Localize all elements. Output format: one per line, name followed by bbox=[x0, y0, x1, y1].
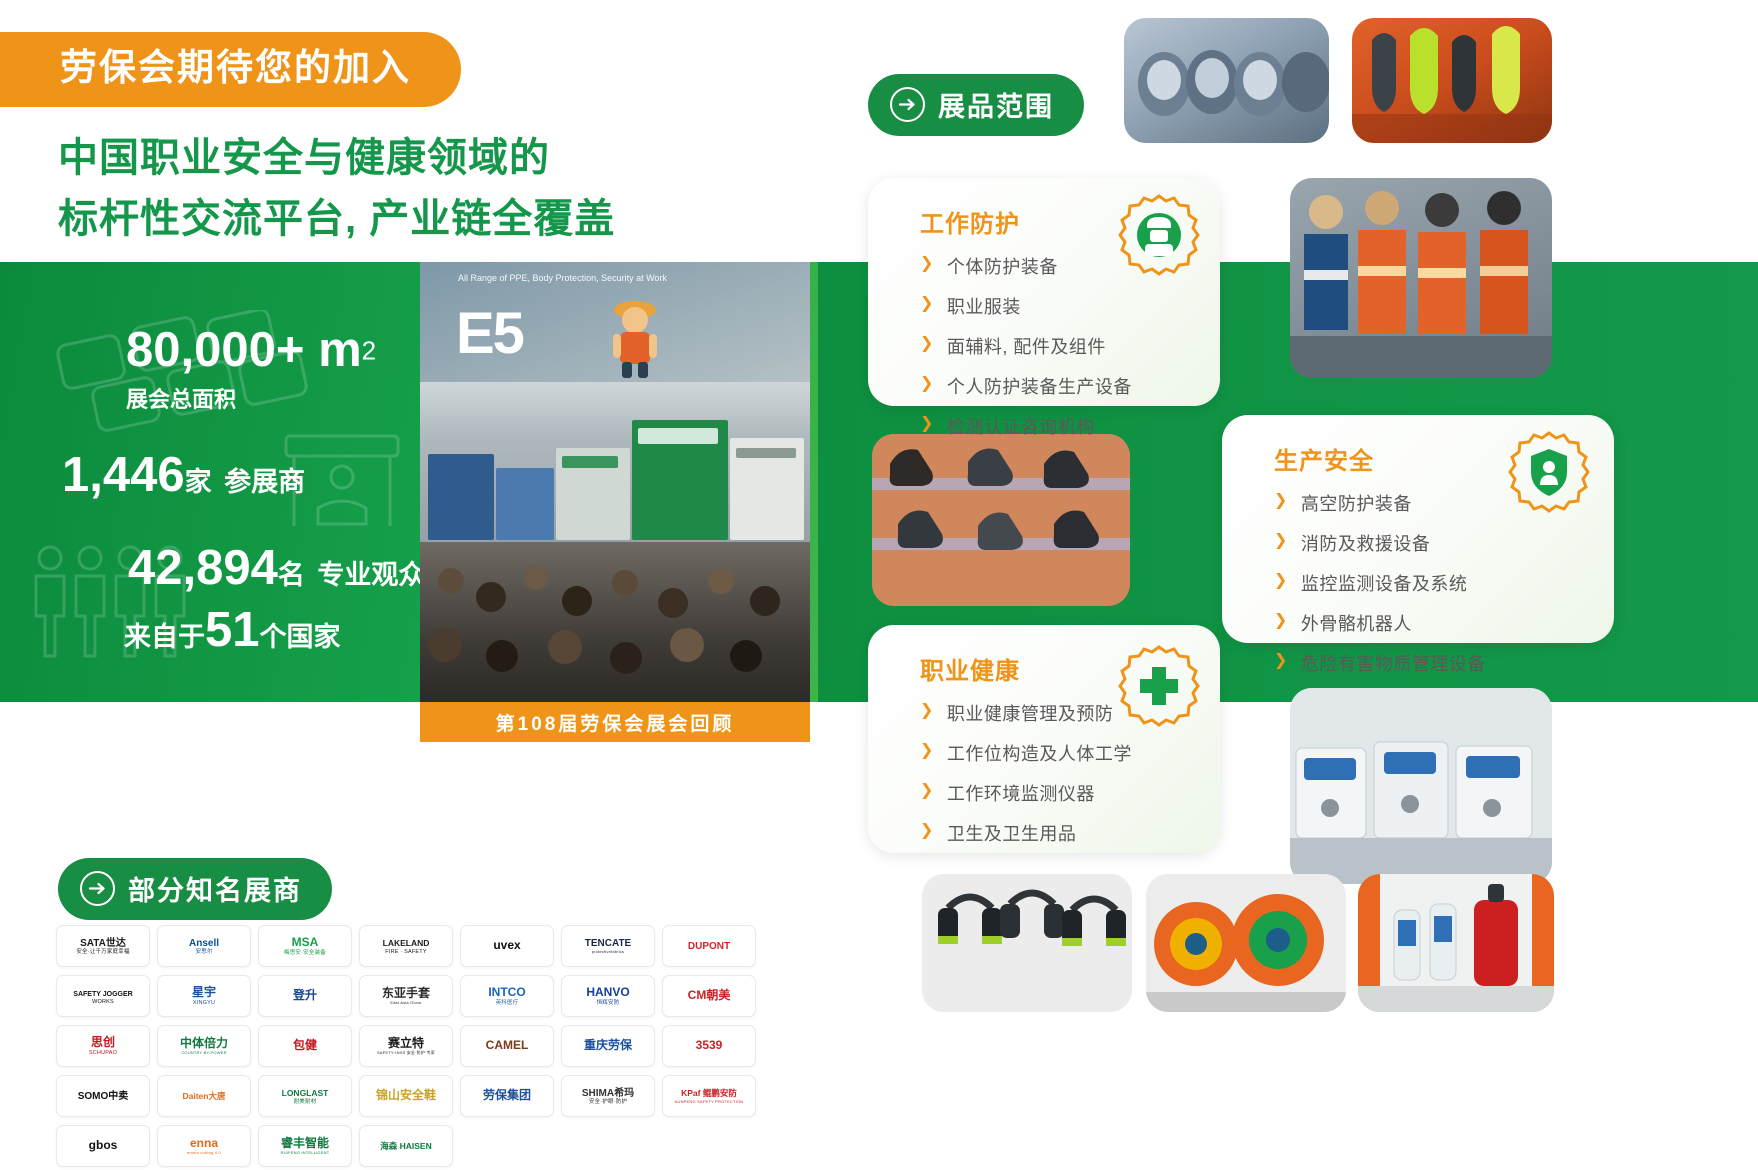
cross-gear-icon bbox=[1116, 643, 1202, 734]
exhibitor-logo-19[interactable]: CAMEL bbox=[460, 1025, 554, 1067]
exhibitor-logo-label: SOMO中卖 bbox=[78, 1090, 129, 1103]
arrow-right-icon bbox=[80, 871, 115, 906]
badge-known-exhibitors[interactable]: 部分知名展商 bbox=[58, 858, 332, 920]
chevron-right-icon: ❯ bbox=[920, 373, 934, 395]
exhibitor-logo-5[interactable]: uvex bbox=[460, 925, 554, 967]
exhibitor-logo-label: 3539 bbox=[696, 1039, 723, 1053]
poster-page: 劳保会期待您的加入 中国职业安全与健康领域的 标杆性交流平台, 产业链全覆盖 bbox=[0, 0, 1758, 1170]
list-item-label: 个体防护装备 bbox=[947, 253, 1058, 279]
worker-gear-icon bbox=[1116, 192, 1202, 283]
exhibitor-logo-label: SAFETY JOGGERWORKS bbox=[73, 987, 132, 1006]
list-item-label: 检测认证咨询机构 bbox=[947, 413, 1095, 439]
exhibitor-logo-label: CAMEL bbox=[486, 1039, 529, 1053]
chevron-right-icon: ❯ bbox=[920, 780, 934, 802]
exhibitor-logo-label: LONGLAST耐美耐材 bbox=[282, 1087, 329, 1106]
badge-known-exhibitors-label: 部分知名展商 bbox=[128, 869, 302, 908]
list-item-label: 工作环境监测仪器 bbox=[947, 780, 1095, 806]
exhibitor-logo-16[interactable]: 中体倍力COUNTRY BY-POWER bbox=[157, 1025, 251, 1067]
page-title: 中国职业安全与健康领域的 标杆性交流平台, 产业链全覆盖 bbox=[58, 128, 615, 250]
exhibitor-logo-9[interactable]: 星宇XINGYU bbox=[157, 975, 251, 1017]
mascot-icon bbox=[600, 294, 670, 380]
respirator-masks-photo bbox=[1124, 18, 1329, 143]
list-item[interactable]: ❯个人防护装备生产设备 bbox=[920, 373, 1190, 399]
chevron-right-icon: ❯ bbox=[1274, 490, 1288, 512]
exhibitor-logo-label: Ansell安思尔 bbox=[189, 937, 219, 956]
exhibitor-logo-2[interactable]: Ansell安思尔 bbox=[157, 925, 251, 967]
exhibitor-logo-17[interactable]: 包健 bbox=[258, 1025, 352, 1067]
stat-exhibitors-unit: 家 bbox=[185, 467, 212, 497]
exhibitor-logo-21[interactable]: 3539 bbox=[662, 1025, 756, 1067]
badge-exhibit-scope[interactable]: 展品范围 bbox=[868, 74, 1084, 136]
list-item-label: 消防及救援设备 bbox=[1301, 530, 1431, 556]
exhibitor-logo-label: 中体倍力COUNTRY BY-POWER bbox=[180, 1037, 228, 1055]
chevron-right-icon: ❯ bbox=[1274, 610, 1288, 632]
list-item[interactable]: ❯监控监测设备及系统 bbox=[1274, 570, 1584, 596]
chevron-right-icon: ❯ bbox=[920, 293, 934, 315]
stat-exhibitors: 1,446家 参展商 bbox=[62, 447, 305, 503]
list-item-label: 面辅料, 配件及组件 bbox=[947, 333, 1106, 359]
exhibitor-logo-23[interactable]: Daiten大唐 bbox=[157, 1075, 251, 1117]
exhibitor-logo-label: DUPONT bbox=[688, 940, 730, 953]
list-item-label: 工作位构造及人体工学 bbox=[947, 740, 1132, 766]
exhibitor-logo-label: HANVO恒辉安防 bbox=[586, 986, 629, 1006]
category-card-work-protection[interactable]: 工作防护 ❯个体防护装备 ❯职业服装 ❯面辅料, 配件及组件 ❯个人防护装备生产… bbox=[868, 178, 1220, 406]
chevron-right-icon: ❯ bbox=[1274, 570, 1288, 592]
exhibitor-logo-label: Daiten大唐 bbox=[183, 1090, 226, 1103]
exhibitor-logo-24[interactable]: LONGLAST耐美耐材 bbox=[258, 1075, 352, 1117]
list-item-label: 外骨骼机器人 bbox=[1301, 610, 1412, 636]
hero-title-line1: 中国职业安全与健康领域的 bbox=[58, 128, 615, 189]
cable-reel-photo bbox=[1146, 874, 1346, 1012]
exhibitor-logo-label: 包健 bbox=[293, 1039, 317, 1053]
stat-countries-suffix: 个国家 bbox=[260, 622, 341, 652]
stat-exhibitors-label: 参展商 bbox=[224, 467, 305, 497]
exhibitor-logo-7[interactable]: DUPONT bbox=[662, 925, 756, 967]
list-item[interactable]: ❯职业服装 bbox=[920, 293, 1190, 319]
exhibitor-logo-label: ennaemma cutting 4.0 bbox=[187, 1137, 221, 1155]
arrow-right-icon bbox=[890, 87, 925, 122]
exhibitor-logo-14[interactable]: CM朝美 bbox=[662, 975, 756, 1017]
exhibitor-logo-label: INTCO英科医疗 bbox=[488, 986, 525, 1006]
exhibitor-logo-11[interactable]: 东亚手套East Asia Glove bbox=[359, 975, 453, 1017]
stat-visitors: 42,894名 专业观众 bbox=[128, 540, 425, 596]
exhibitor-logo-3[interactable]: MSA梅思安·安全装备 bbox=[258, 925, 352, 967]
safety-shoes-photo bbox=[872, 434, 1130, 606]
list-item[interactable]: ❯检测认证咨询机构 bbox=[920, 413, 1190, 439]
exhibitor-logo-label: 思创SCHUPAO bbox=[89, 1036, 117, 1056]
stat-exhibitors-value: 1,446 bbox=[62, 448, 185, 502]
safety-gloves-photo bbox=[1352, 18, 1552, 143]
visitor-crowd-area bbox=[420, 542, 810, 712]
chevron-right-icon: ❯ bbox=[1274, 650, 1288, 672]
chevron-right-icon: ❯ bbox=[1274, 530, 1288, 552]
list-item[interactable]: ❯消防及救援设备 bbox=[1274, 530, 1584, 556]
list-item-label: 卫生及卫生用品 bbox=[947, 820, 1077, 846]
exhibitor-logo-label: 赛立特SAFETY·INXS 安全·防护·专家 bbox=[377, 1037, 435, 1055]
stat-total-area: 80,000+ m2 展会总面积 bbox=[126, 322, 376, 414]
list-item[interactable]: ❯工作位构造及人体工学 bbox=[920, 740, 1190, 766]
exhibitor-logo-31[interactable]: 睿丰智能RUIFENG INTELLIGENT bbox=[258, 1125, 352, 1167]
list-item-label: 个人防护装备生产设备 bbox=[947, 373, 1132, 399]
exhibitor-logo-6[interactable]: TENCATEprotectivefabrics bbox=[561, 925, 655, 967]
list-item[interactable]: ❯外骨骼机器人 bbox=[1274, 610, 1584, 636]
exhibitor-logo-label: TENCATEprotectivefabrics bbox=[585, 937, 631, 954]
exhibitor-logo-28[interactable]: KPaf 鲲鹏安防KUNPENG SAFETY PROTECTION bbox=[662, 1075, 756, 1117]
exhibitor-logo-8[interactable]: SAFETY JOGGERWORKS bbox=[56, 975, 150, 1017]
exhibitor-logo-20[interactable]: 重庆劳保 bbox=[561, 1025, 655, 1067]
list-item-label: 监控监测设备及系统 bbox=[1301, 570, 1468, 596]
exhibitor-logo-27[interactable]: SHIMA希玛安全·护眼·防护 bbox=[561, 1075, 655, 1117]
exhibitor-logo-13[interactable]: HANVO恒辉安防 bbox=[561, 975, 655, 1017]
list-item-label: 职业服装 bbox=[947, 293, 1021, 319]
hero-badge: 劳保会期待您的加入 bbox=[0, 32, 461, 107]
stat-area-value: 80,000+ m bbox=[126, 323, 362, 377]
shield-gear-icon bbox=[1506, 429, 1592, 520]
exhibitor-logo-4[interactable]: LAKELANDFIRE · SAFETY bbox=[359, 925, 453, 967]
hero-title-line2: 标杆性交流平台, 产业链全覆盖 bbox=[58, 189, 615, 250]
category-card-occupational-health[interactable]: 职业健康 ❯职业健康管理及预防 ❯工作位构造及人体工学 ❯工作环境监测仪器 ❯卫… bbox=[868, 625, 1220, 853]
exhibition-review-photo: All Range of PPE, Body Protection, Secur… bbox=[420, 262, 810, 742]
exhibitor-logo-15[interactable]: 思创SCHUPAO bbox=[56, 1025, 150, 1067]
exhibitor-logo-grid: SATA世达安全·让千万家庭幸福Ansell安思尔MSA梅思安·安全装备LAKE… bbox=[56, 925, 766, 1167]
exhibitor-logo-label: CM朝美 bbox=[688, 989, 731, 1003]
exhibitor-logo-32[interactable]: 海森 HAISEN bbox=[359, 1125, 453, 1167]
list-item[interactable]: ❯工作环境监测仪器 bbox=[920, 780, 1190, 806]
exhibitor-logo-label: 锦山安全鞋 bbox=[376, 1089, 436, 1103]
exhibitor-logo-label: 东亚手套East Asia Glove bbox=[382, 987, 430, 1005]
stat-countries-prefix: 来自于 bbox=[124, 622, 205, 652]
protective-suits-photo bbox=[1290, 178, 1552, 378]
photo-caption: 第108届劳保会展会回顾 bbox=[420, 702, 810, 742]
badge-exhibit-scope-label: 展品范围 bbox=[938, 85, 1054, 124]
fire-extinguisher-photo bbox=[1358, 874, 1554, 1012]
exhibitor-logo-label: 海森 HAISEN bbox=[380, 1140, 431, 1153]
exhibitor-logo-label: gbos bbox=[89, 1139, 118, 1153]
production-machine-photo bbox=[1290, 688, 1552, 884]
list-item-label: 职业健康管理及预防 bbox=[947, 700, 1114, 726]
exhibitor-logo-label: 星宇XINGYU bbox=[192, 986, 216, 1006]
chevron-right-icon: ❯ bbox=[920, 740, 934, 762]
chevron-right-icon: ❯ bbox=[920, 820, 934, 842]
stat-visitors-value: 42,894 bbox=[128, 541, 278, 595]
chevron-right-icon: ❯ bbox=[920, 333, 934, 355]
exhibitor-logo-label: SATA世达安全·让千万家庭幸福 bbox=[76, 937, 129, 956]
exhibitor-logo-label: SHIMA希玛安全·护眼·防护 bbox=[582, 1087, 634, 1106]
exhibitor-logo-label: uvex bbox=[493, 939, 520, 953]
exhibitor-logo-label: 睿丰智能RUIFENG INTELLIGENT bbox=[281, 1137, 330, 1155]
ppe-banner-text: All Range of PPE, Body Protection, Secur… bbox=[458, 272, 667, 286]
stat-countries-value: 51 bbox=[205, 603, 260, 657]
exhibitor-logo-22[interactable]: SOMO中卖 bbox=[56, 1075, 150, 1117]
chevron-right-icon: ❯ bbox=[920, 413, 934, 435]
chevron-right-icon: ❯ bbox=[920, 253, 934, 275]
exhibitor-logo-label: 登升 bbox=[293, 989, 317, 1003]
exhibitor-logo-25[interactable]: 锦山安全鞋 bbox=[359, 1075, 453, 1117]
exhibitor-logo-label: 重庆劳保 bbox=[584, 1039, 632, 1053]
exhibitor-logo-30[interactable]: ennaemma cutting 4.0 bbox=[157, 1125, 251, 1167]
ear-protection-photo bbox=[922, 874, 1132, 1012]
hall-code-label: E5 bbox=[456, 300, 523, 367]
list-item[interactable]: ❯面辅料, 配件及组件 bbox=[920, 333, 1190, 359]
exhibitor-logo-26[interactable]: 劳保集团 bbox=[460, 1075, 554, 1117]
chevron-right-icon: ❯ bbox=[920, 700, 934, 722]
list-item-label: 高空防护装备 bbox=[1301, 490, 1412, 516]
exhibitor-logo-10[interactable]: 登升 bbox=[258, 975, 352, 1017]
exhibitor-logo-label: 劳保集团 bbox=[483, 1089, 531, 1103]
exhibitor-logo-label: MSA梅思安·安全装备 bbox=[284, 936, 326, 956]
list-item[interactable]: ❯卫生及卫生用品 bbox=[920, 820, 1190, 846]
exhibitor-logo-label: LAKELANDFIRE · SAFETY bbox=[383, 937, 430, 956]
exhibitor-logo-1[interactable]: SATA世达安全·让千万家庭幸福 bbox=[56, 925, 150, 967]
stat-visitors-label: 专业观众 bbox=[317, 560, 425, 590]
stat-area-label: 展会总面积 bbox=[126, 382, 376, 414]
list-item-label: 危险有害物质管理设备 bbox=[1301, 650, 1486, 676]
exhibitor-logo-label: KPaf 鲲鹏安防KUNPENG SAFETY PROTECTION bbox=[675, 1087, 744, 1104]
exhibitor-logo-12[interactable]: INTCO英科医疗 bbox=[460, 975, 554, 1017]
stat-visitors-unit: 名 bbox=[278, 560, 305, 590]
list-item[interactable]: ❯危险有害物质管理设备 bbox=[1274, 650, 1584, 676]
stat-area-superscript: 2 bbox=[362, 336, 376, 366]
stat-countries: 来自于51个国家 bbox=[124, 602, 341, 658]
category-card-production-safety[interactable]: 生产安全 ❯高空防护装备 ❯消防及救援设备 ❯监控监测设备及系统 ❯外骨骼机器人… bbox=[1222, 415, 1614, 643]
exhibitor-logo-18[interactable]: 赛立特SAFETY·INXS 安全·防护·专家 bbox=[359, 1025, 453, 1067]
exhibitor-logo-29[interactable]: gbos bbox=[56, 1125, 150, 1167]
